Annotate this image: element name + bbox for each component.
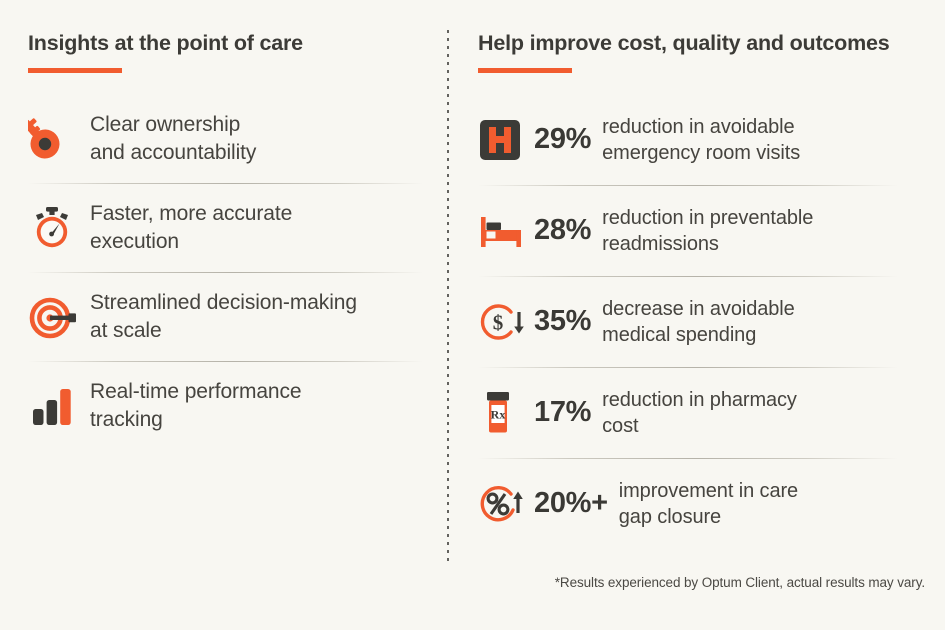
percent-up-icon — [478, 482, 534, 526]
stat-line2: emergency room visits — [602, 140, 800, 166]
list-item-line1: Faster, more accurate — [90, 200, 292, 228]
stat-line2: medical spending — [602, 322, 794, 348]
svg-text:Rx: Rx — [491, 407, 506, 421]
stat-value: 28% — [534, 214, 602, 247]
pill-bottle-rx-icon: Rx — [478, 389, 534, 437]
list-item-label: Faster, more accurate execution — [90, 200, 292, 255]
stat-line2: gap closure — [619, 504, 798, 530]
stat-line1: decrease in avoidable — [602, 296, 794, 322]
stat-description: improvement in care gap closure — [619, 478, 798, 530]
list-item-line2: tracking — [90, 406, 301, 434]
stat-item: 29% reduction in avoidable emergency roo… — [478, 95, 918, 185]
list-item-line1: Real-time performance — [90, 378, 301, 406]
list-item: Clear ownership and accountability — [28, 95, 428, 183]
stat-item: $ 35% decrease in avoidable medical spen… — [478, 277, 918, 367]
list-item: Real-time performance tracking — [28, 362, 428, 450]
stat-value: 29% — [534, 123, 602, 156]
stat-description: reduction in avoidable emergency room vi… — [602, 114, 800, 166]
target-icon — [28, 294, 90, 340]
bar-chart-icon — [28, 383, 90, 429]
stat-value: 17% — [534, 396, 602, 429]
right-column: Help improve cost, quality and outcomes … — [478, 32, 918, 549]
list-item-line1: Streamlined decision-making — [90, 289, 357, 317]
list-item-line2: execution — [90, 228, 292, 256]
vertical-dotted-divider — [447, 30, 449, 566]
footnote: *Results experienced by Optum Client, ac… — [555, 575, 925, 590]
list-item-label: Streamlined decision-making at scale — [90, 289, 357, 344]
list-item-line2: at scale — [90, 317, 357, 345]
stat-line1: reduction in preventable — [602, 205, 813, 231]
right-accent-rule — [478, 68, 572, 73]
stat-item: Rx 17% reduction in pharmacy cost — [478, 368, 918, 458]
stat-line1: reduction in pharmacy — [602, 387, 797, 413]
stat-line1: improvement in care — [619, 478, 798, 504]
stat-line2: cost — [602, 413, 797, 439]
left-column: Insights at the point of care — [28, 32, 428, 450]
list-item-label: Real-time performance tracking — [90, 378, 301, 433]
list-item-line1: Clear ownership — [90, 111, 256, 139]
list-item: Streamlined decision-making at scale — [28, 273, 428, 361]
svg-text:$: $ — [493, 310, 504, 334]
dollar-down-icon: $ — [478, 300, 534, 344]
stat-line1: reduction in avoidable — [602, 114, 800, 140]
bed-icon — [478, 211, 534, 251]
right-list: 29% reduction in avoidable emergency roo… — [478, 95, 918, 549]
list-item-line2: and accountability — [90, 139, 256, 167]
left-column-heading: Insights at the point of care — [28, 32, 428, 56]
stat-item: 28% reduction in preventable readmission… — [478, 186, 918, 276]
left-list: Clear ownership and accountability — [28, 95, 428, 450]
key-icon — [28, 117, 90, 161]
stat-value: 20%+ — [534, 487, 619, 520]
stat-description: decrease in avoidable medical spending — [602, 296, 794, 348]
infographic-canvas: Insights at the point of care — [0, 0, 945, 630]
stat-item: 20%+ improvement in care gap closure — [478, 459, 918, 549]
left-accent-rule — [28, 68, 122, 73]
list-item: Faster, more accurate execution — [28, 184, 428, 272]
right-column-heading: Help improve cost, quality and outcomes — [478, 32, 918, 56]
hospital-icon — [478, 118, 534, 162]
stat-description: reduction in preventable readmissions — [602, 205, 813, 257]
stat-description: reduction in pharmacy cost — [602, 387, 797, 439]
list-item-label: Clear ownership and accountability — [90, 111, 256, 166]
stat-value: 35% — [534, 305, 602, 338]
stopwatch-icon — [28, 205, 90, 251]
stat-line2: readmissions — [602, 231, 813, 257]
